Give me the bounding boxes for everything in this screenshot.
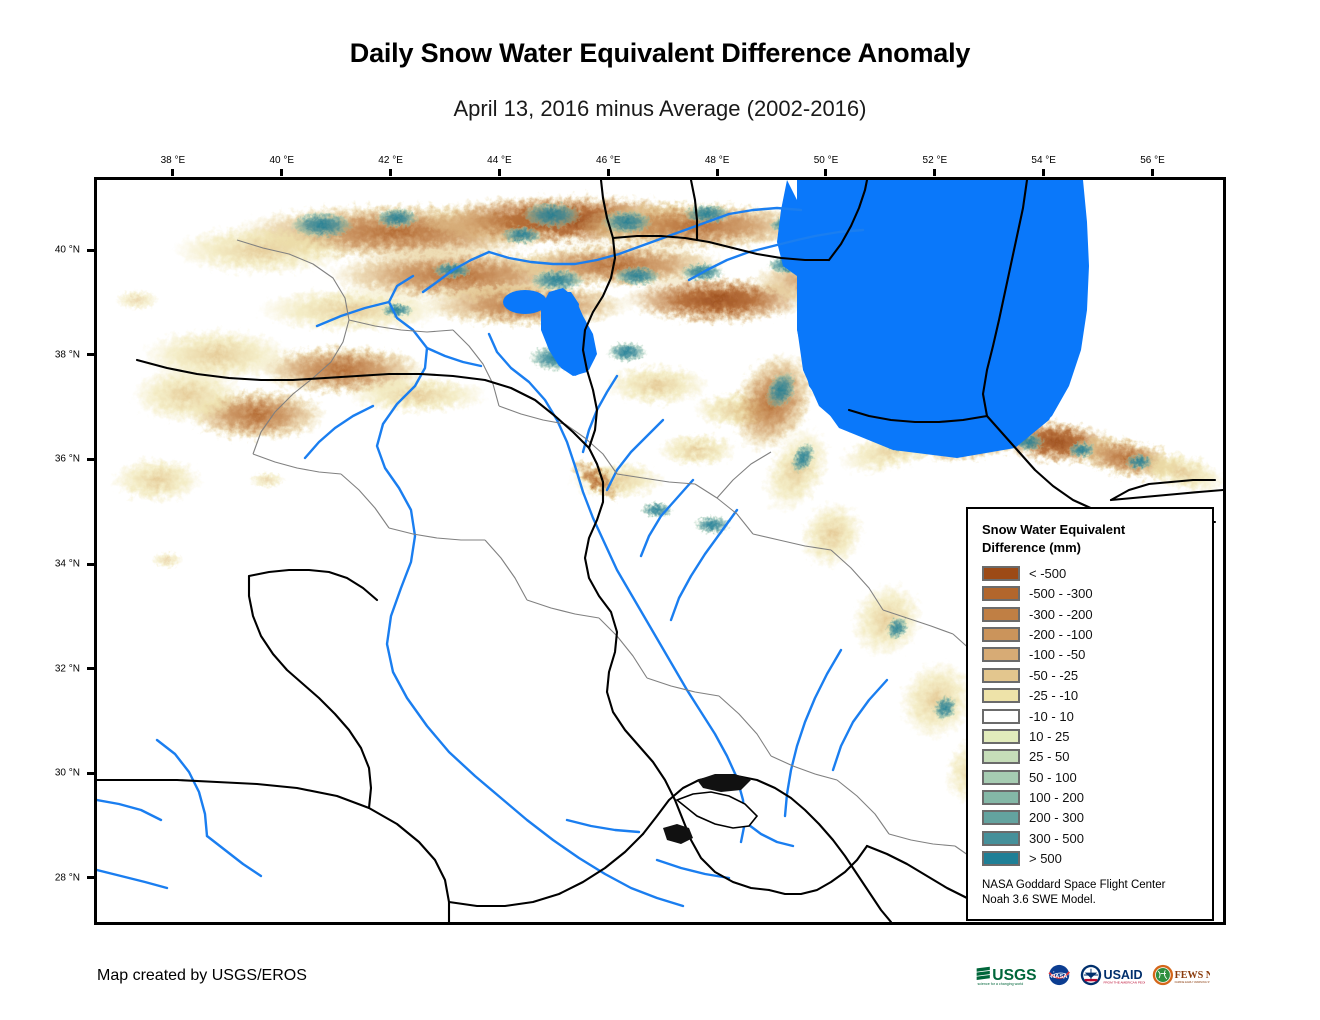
legend-class-list: < -500-500 - -300-300 - -200-200 - -100-… — [982, 563, 1202, 869]
legend-label: > 500 — [1029, 851, 1062, 866]
lat-tick — [87, 667, 94, 670]
lon-tick-label: 42 °E — [378, 155, 403, 166]
lon-tick-label: 50 °E — [814, 155, 839, 166]
legend-label: -200 - -100 — [1029, 627, 1093, 642]
legend-row: -100 - -50 — [982, 645, 1202, 665]
legend-label: -25 - -10 — [1029, 688, 1078, 703]
lat-tick-label: 36 °N — [55, 454, 80, 465]
lon-tick-label: 38 °E — [161, 155, 186, 166]
legend-title-line1: Snow Water Equivalent — [982, 521, 1202, 539]
page-subtitle: April 13, 2016 minus Average (2002-2016) — [0, 96, 1320, 122]
legend-row: -500 - -300 — [982, 583, 1202, 603]
legend-title-line2: Difference (mm) — [982, 539, 1202, 557]
usaid-logo[interactable]: USAID FROM THE AMERICAN PEOPLE — [1080, 960, 1146, 990]
legend-credit: NASA Goddard Space Flight Center Noah 3.… — [982, 878, 1202, 909]
legend-swatch — [982, 790, 1020, 805]
svg-text:NASA: NASA — [1051, 974, 1068, 980]
lon-tick — [1151, 169, 1154, 176]
map-legend[interactable]: Snow Water Equivalent Difference (mm) < … — [966, 507, 1214, 921]
lon-tick-label: 46 °E — [596, 155, 621, 166]
legend-row: -200 - -100 — [982, 624, 1202, 644]
legend-row: 300 - 500 — [982, 828, 1202, 848]
lon-tick — [933, 169, 936, 176]
lon-tick-label: 54 °E — [1031, 155, 1056, 166]
lat-tick — [87, 876, 94, 879]
lon-tick — [824, 169, 827, 176]
lon-tick-label: 56 °E — [1140, 155, 1165, 166]
legend-swatch — [982, 668, 1020, 683]
legend-row: -10 - 10 — [982, 706, 1202, 726]
legend-row: 50 - 100 — [982, 767, 1202, 787]
legend-row: 200 - 300 — [982, 808, 1202, 828]
page-title: Daily Snow Water Equivalent Difference A… — [0, 38, 1320, 69]
lon-tick-label: 44 °E — [487, 155, 512, 166]
legend-label: 200 - 300 — [1029, 810, 1084, 825]
legend-swatch — [982, 810, 1020, 825]
lon-tick — [716, 169, 719, 176]
lake-van — [503, 290, 547, 314]
lat-tick — [87, 249, 94, 252]
legend-row: -50 - -25 — [982, 665, 1202, 685]
legend-swatch — [982, 831, 1020, 846]
legend-label: -50 - -25 — [1029, 668, 1078, 683]
usgs-logo[interactable]: USGS science for a changing world — [975, 960, 1039, 990]
logo-strip: USGS science for a changing world NASA U… — [975, 955, 1210, 995]
lon-tick — [280, 169, 283, 176]
legend-label: 100 - 200 — [1029, 790, 1084, 805]
legend-label: 300 - 500 — [1029, 831, 1084, 846]
lon-tick — [607, 169, 610, 176]
legend-swatch — [982, 709, 1020, 724]
legend-swatch — [982, 688, 1020, 703]
legend-label: -300 - -200 — [1029, 607, 1093, 622]
legend-row: 25 - 50 — [982, 747, 1202, 767]
legend-title: Snow Water Equivalent Difference (mm) — [982, 521, 1202, 556]
legend-swatch — [982, 607, 1020, 622]
footer-credit: Map created by USGS/EROS — [97, 967, 307, 985]
legend-label: -500 - -300 — [1029, 586, 1093, 601]
lon-tick-label: 52 °E — [923, 155, 948, 166]
lat-tick-label: 28 °N — [55, 872, 80, 883]
svg-text:FAMINE EARLY WARNING SYSTEMS N: FAMINE EARLY WARNING SYSTEMS NETWORK — [1175, 980, 1210, 984]
lat-tick-label: 40 °N — [55, 245, 80, 256]
svg-text:FEWS NET: FEWS NET — [1175, 970, 1210, 981]
lon-tick — [171, 169, 174, 176]
legend-row: < -500 — [982, 563, 1202, 583]
legend-row: 10 - 25 — [982, 726, 1202, 746]
fews-net-logo[interactable]: FEWS NET FAMINE EARLY WARNING SYSTEMS NE… — [1152, 960, 1210, 990]
legend-row: -300 - -200 — [982, 604, 1202, 624]
legend-row: 100 - 200 — [982, 787, 1202, 807]
legend-label: -100 - -50 — [1029, 647, 1085, 662]
legend-label: -10 - 10 — [1029, 709, 1074, 724]
lat-tick — [87, 563, 94, 566]
legend-swatch — [982, 770, 1020, 785]
legend-row: -25 - -10 — [982, 685, 1202, 705]
lat-tick — [87, 353, 94, 356]
lon-tick-label: 40 °E — [269, 155, 294, 166]
map-page: Daily Snow Water Equivalent Difference A… — [0, 0, 1320, 1020]
lat-tick — [87, 772, 94, 775]
lon-tick — [389, 169, 392, 176]
legend-swatch — [982, 749, 1020, 764]
lat-tick-label: 30 °N — [55, 768, 80, 779]
svg-text:USAID: USAID — [1103, 968, 1142, 982]
legend-label: 10 - 25 — [1029, 729, 1069, 744]
lon-tick — [498, 169, 501, 176]
lon-tick-label: 48 °E — [705, 155, 730, 166]
legend-label: 25 - 50 — [1029, 749, 1069, 764]
legend-swatch — [982, 851, 1020, 866]
legend-swatch — [982, 627, 1020, 642]
legend-label: 50 - 100 — [1029, 770, 1077, 785]
svg-text:FROM THE AMERICAN PEOPLE: FROM THE AMERICAN PEOPLE — [1103, 981, 1145, 985]
legend-swatch — [982, 566, 1020, 581]
lat-tick-label: 34 °N — [55, 559, 80, 570]
svg-text:science for a changing world: science for a changing world — [977, 982, 1023, 986]
legend-swatch — [982, 729, 1020, 744]
lon-tick — [1042, 169, 1045, 176]
nasa-logo[interactable]: NASA — [1046, 960, 1072, 990]
legend-swatch — [982, 647, 1020, 662]
legend-swatch — [982, 586, 1020, 601]
legend-row: > 500 — [982, 849, 1202, 869]
lat-tick-label: 32 °N — [55, 663, 80, 674]
legend-label: < -500 — [1029, 566, 1066, 581]
lat-tick-label: 38 °N — [55, 349, 80, 360]
lat-tick — [87, 458, 94, 461]
